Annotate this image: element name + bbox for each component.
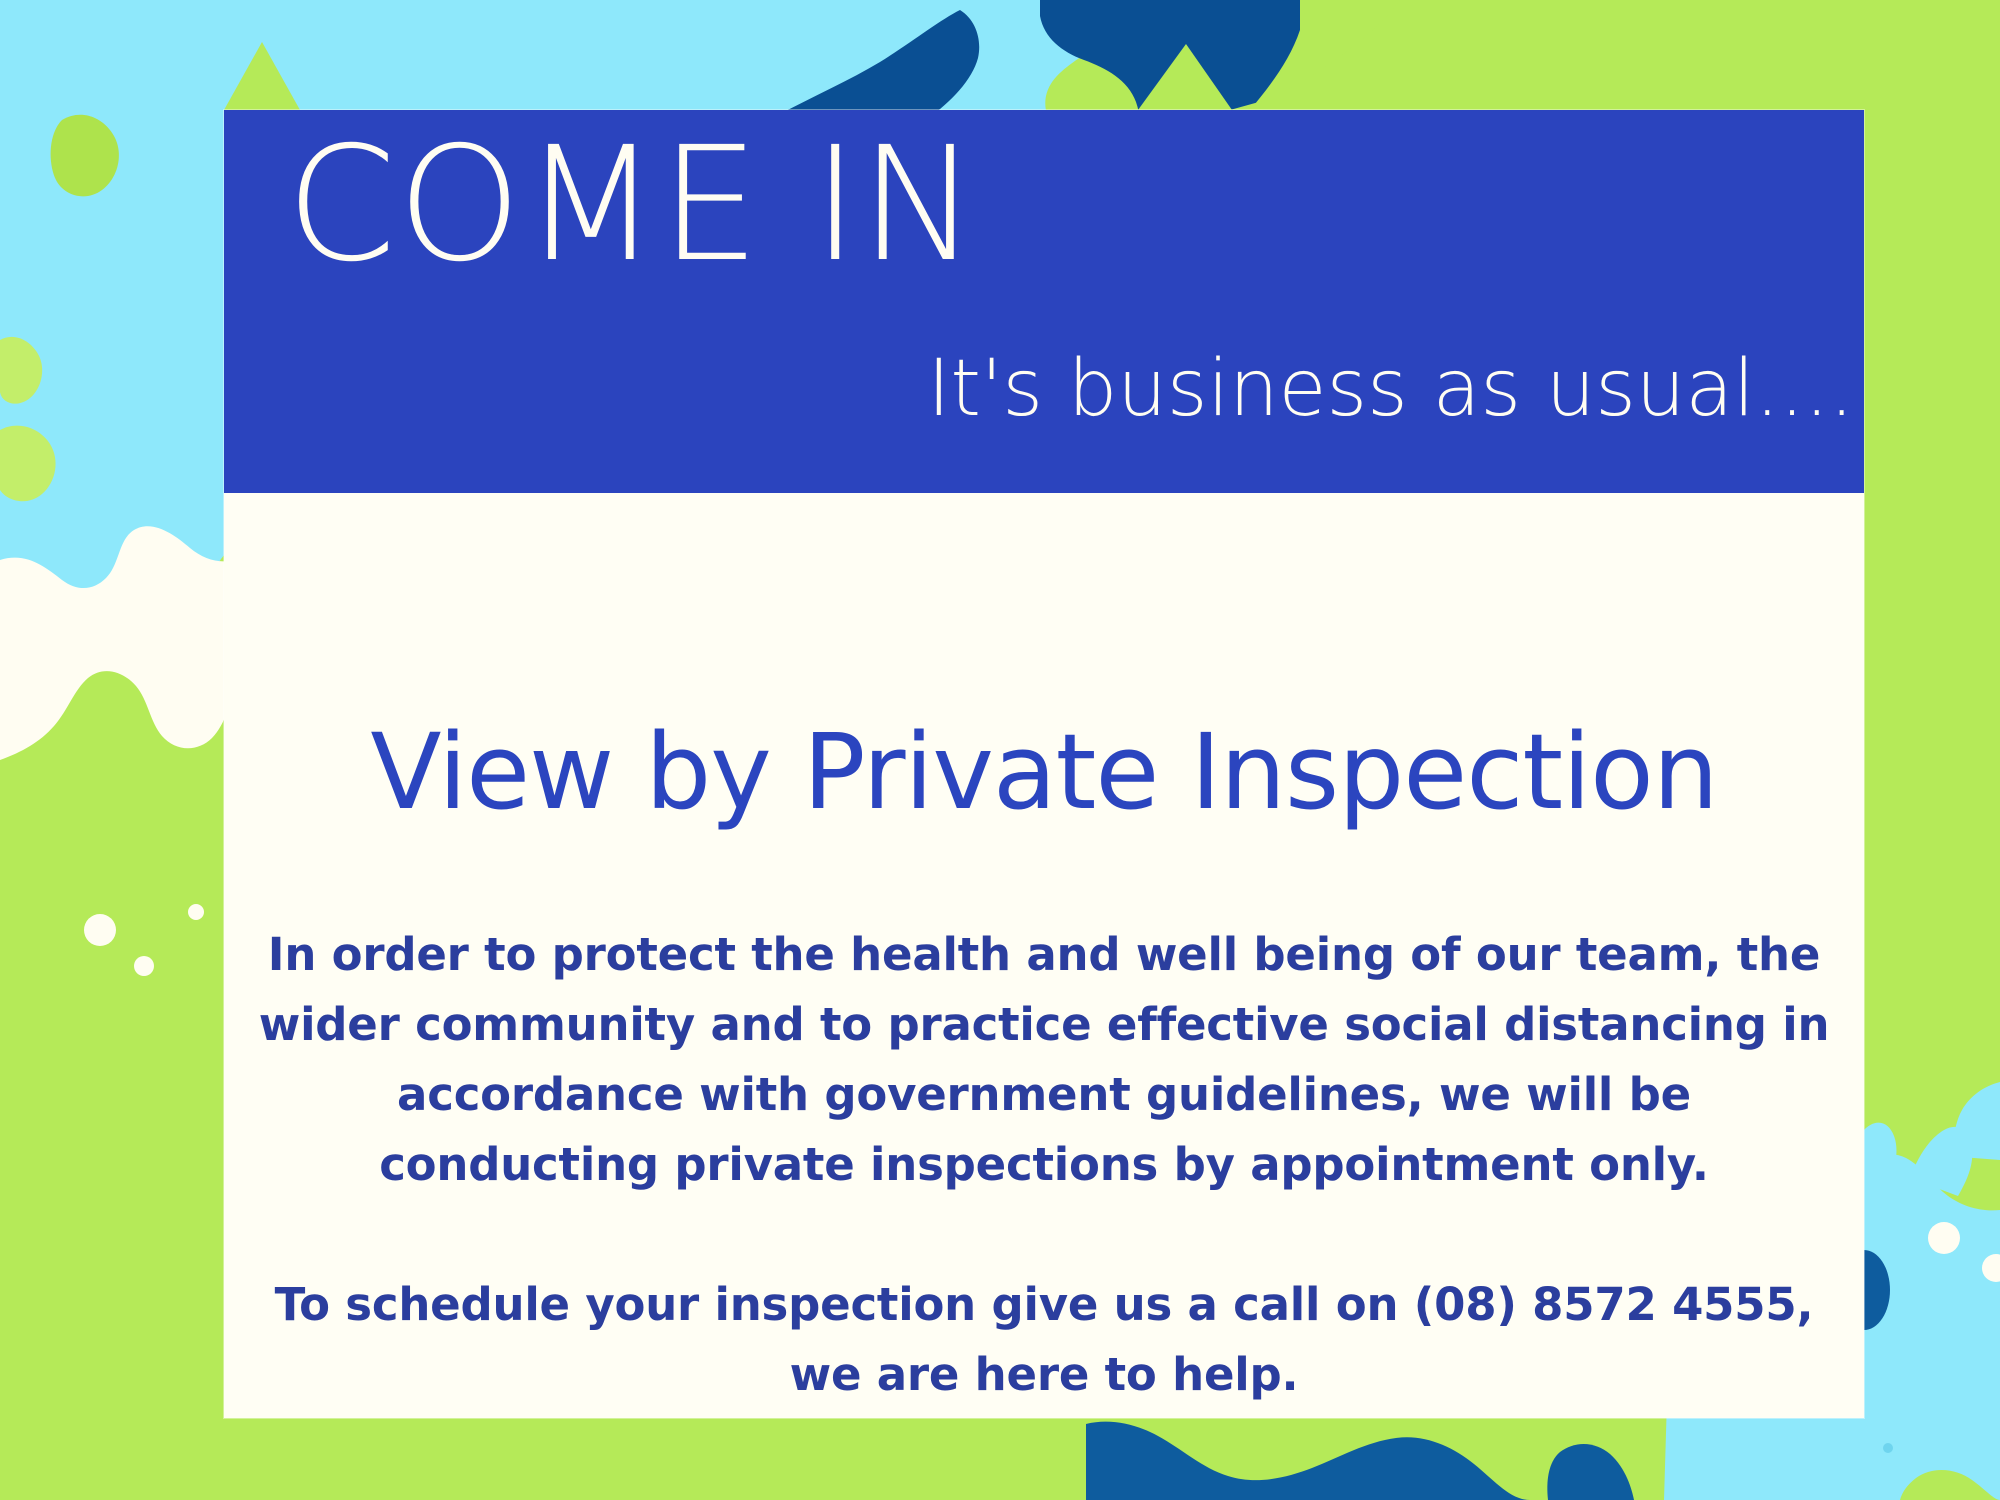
splatter-hole-4 — [1928, 1222, 1960, 1254]
main-heading: View by Private Inspection — [224, 720, 1864, 824]
paragraph-contact: To schedule your inspection give us a ca… — [252, 1270, 1837, 1410]
paragraph-policy: In order to protect the health and well … — [252, 920, 1837, 1200]
poster-card: COME IN It's business as usual.... View … — [224, 110, 1864, 1418]
paragraph-block: In order to protect the health and well … — [252, 920, 1837, 1410]
splatter-hole-3 — [188, 904, 204, 920]
header-band: COME IN It's business as usual.... — [224, 110, 1864, 493]
page-subtitle: It's business as usual.... — [927, 350, 1854, 428]
splatter-hole-1 — [84, 914, 116, 946]
page-title: COME IN — [286, 126, 979, 284]
paragraph-spacer — [252, 1200, 1837, 1270]
card-body: View by Private Inspection In order to p… — [224, 493, 1864, 1418]
splatter-hole-2 — [134, 956, 154, 976]
splatter-dot-br — [1883, 1443, 1893, 1453]
